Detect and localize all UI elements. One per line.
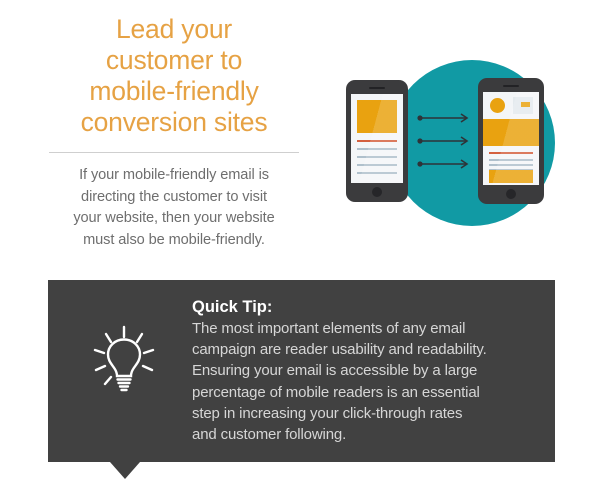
phone-left-screen — [351, 94, 403, 183]
avatar-circle — [490, 98, 505, 113]
phone-right-screen — [483, 92, 539, 185]
cta-button-block — [489, 170, 533, 183]
phone-speaker-icon — [369, 87, 385, 89]
accent-rule — [489, 152, 533, 154]
phone-home-button-icon — [506, 189, 516, 199]
phone-right — [478, 78, 544, 204]
lightbulb-icon — [87, 322, 163, 398]
phone-speaker-icon — [503, 85, 519, 87]
card-box — [513, 97, 533, 114]
text-line — [357, 148, 397, 150]
text-line — [489, 164, 533, 166]
card-mark — [521, 102, 530, 107]
hero-banner-block — [483, 119, 539, 146]
hero-image-block — [357, 100, 397, 133]
hero-section: Lead your customer to mobile-friendly co… — [0, 0, 600, 270]
headline-block: Lead your customer to mobile-friendly co… — [28, 14, 320, 251]
accent-rule — [357, 140, 397, 142]
phones-illustration — [330, 50, 592, 265]
header-divider — [49, 152, 299, 153]
quick-tip-title: Quick Tip: — [192, 297, 544, 318]
quick-tip-text-block: Quick Tip: The most important elements o… — [192, 297, 544, 445]
text-line — [357, 164, 397, 166]
text-line — [489, 159, 533, 161]
text-line — [357, 156, 397, 158]
quick-tip-panel-tail — [110, 462, 140, 479]
arrows-svg — [416, 112, 476, 174]
flow-arrows — [416, 112, 476, 174]
quick-tip-body: The most important elements of any email… — [192, 318, 544, 445]
page-subtext: If your mobile-friendly email is directi… — [28, 165, 320, 251]
lightbulb-svg — [87, 322, 163, 398]
text-line — [357, 172, 397, 174]
phone-left — [346, 80, 408, 202]
page-title: Lead your customer to mobile-friendly co… — [28, 14, 320, 138]
phone-home-button-icon — [372, 187, 382, 197]
